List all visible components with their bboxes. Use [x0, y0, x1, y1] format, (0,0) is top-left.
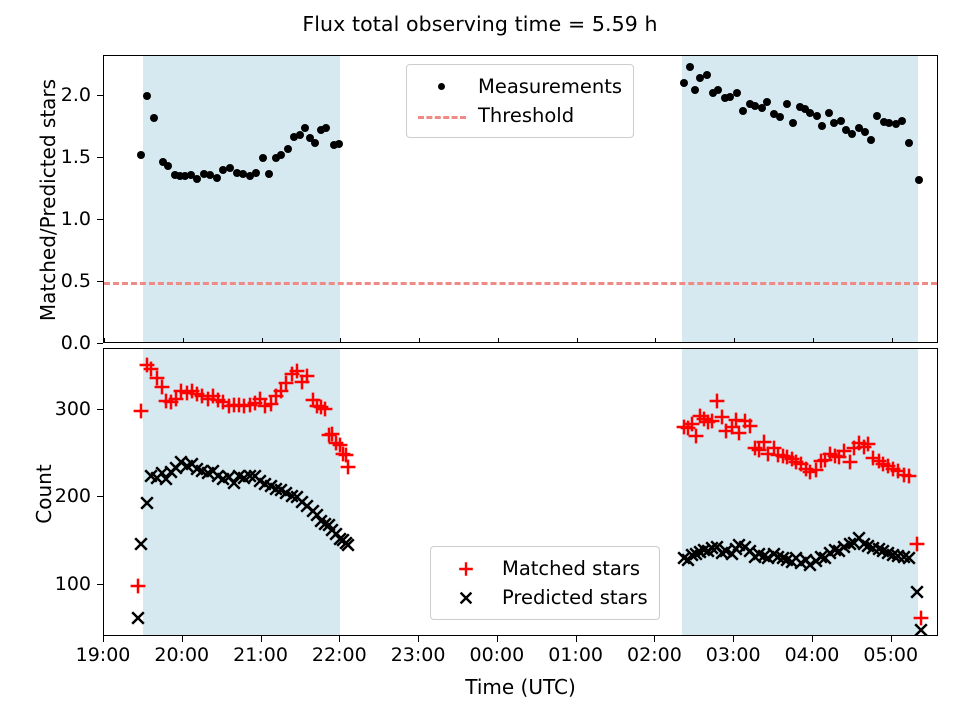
legend-item-predicted-stars: Predicted stars — [440, 583, 648, 612]
x-axis: 19:0020:0021:0022:0023:0000:0001:0002:00… — [103, 636, 938, 676]
x-tick-label: 21:00 — [233, 644, 288, 666]
x-tick-mark — [812, 636, 813, 642]
y-tick-mark — [97, 219, 103, 220]
y-tick-mark — [97, 584, 103, 585]
data-point — [898, 117, 906, 125]
observing-block-shade — [143, 56, 340, 342]
bottom-panel-legend: Matched stars Predicted stars — [430, 546, 660, 620]
data-point — [837, 117, 845, 125]
x-tick-mark — [261, 636, 262, 642]
x-tick-mark — [497, 636, 498, 642]
x-tick-mark — [891, 636, 892, 642]
x-tick-label: 22:00 — [312, 644, 367, 666]
x-tick-mark — [813, 338, 814, 343]
figure: Flux total observing time = 5.59 h Measu… — [0, 0, 960, 720]
data-point — [739, 107, 747, 115]
data-point — [763, 98, 771, 106]
threshold-line — [104, 282, 937, 285]
data-point — [252, 169, 260, 177]
y-tick-label: 0.5 — [61, 270, 91, 292]
legend-item-threshold: Threshold — [416, 101, 622, 130]
x-tick-mark — [182, 636, 183, 642]
x-tick-label: 23:00 — [391, 644, 446, 666]
data-point — [322, 124, 330, 132]
x-tick-mark — [498, 338, 499, 343]
data-point — [284, 145, 292, 153]
x-axis-label: Time (UTC) — [103, 675, 938, 699]
x-tick-mark — [419, 338, 420, 343]
x-tick-label: 05:00 — [863, 644, 918, 666]
data-point — [335, 140, 343, 148]
data-point — [213, 174, 221, 182]
page-title: Flux total observing time = 5.59 h — [0, 12, 960, 36]
x-tick-mark — [104, 338, 105, 343]
x-tick-mark — [183, 338, 184, 343]
data-point — [259, 154, 267, 162]
bottom-panel-y-axis-label: Count — [32, 349, 56, 639]
x-tick-mark — [103, 636, 104, 642]
data-point — [150, 114, 158, 122]
legend-item-matched-stars: Matched stars — [440, 554, 648, 583]
cross-marker-icon — [440, 586, 492, 610]
top-panel: Measurements Threshold — [103, 55, 938, 343]
x-tick-mark — [576, 636, 577, 642]
data-point — [691, 86, 699, 94]
x-tick-mark — [418, 636, 419, 642]
data-point — [818, 122, 826, 130]
observing-block-shade — [682, 56, 918, 342]
data-point — [915, 176, 923, 184]
data-point — [733, 89, 741, 97]
dot-marker-icon — [416, 75, 468, 99]
data-point — [703, 71, 711, 79]
y-tick-mark — [97, 496, 103, 497]
y-tick-label: 2.0 — [61, 84, 91, 106]
y-tick-label: 1.0 — [61, 208, 91, 230]
x-tick-mark — [340, 338, 341, 343]
y-tick-label: 200 — [55, 485, 91, 507]
data-point — [686, 63, 694, 71]
x-tick-mark — [655, 338, 656, 343]
legend-label-predicted-stars: Predicted stars — [492, 586, 648, 609]
y-tick-mark — [97, 281, 103, 282]
data-point — [776, 113, 784, 121]
x-tick-label: 00:00 — [469, 644, 524, 666]
x-tick-label: 19:00 — [76, 644, 131, 666]
plus-marker-icon — [440, 557, 492, 581]
y-tick-mark — [97, 343, 103, 344]
top-panel-y-axis-label: Matched/Predicted stars — [36, 55, 60, 345]
data-point — [813, 112, 821, 120]
dashed-line-icon — [416, 104, 468, 128]
y-tick-label: 300 — [55, 398, 91, 420]
data-point — [143, 92, 151, 100]
y-tick-label: 1.5 — [61, 146, 91, 168]
y-tick-mark — [97, 157, 103, 158]
bottom-panel: Matched stars Predicted stars — [103, 348, 938, 636]
legend-item-measurements: Measurements — [416, 72, 622, 101]
x-tick-label: 04:00 — [785, 644, 840, 666]
data-point — [714, 86, 722, 94]
data-point — [905, 139, 913, 147]
legend-label-matched-stars: Matched stars — [492, 557, 640, 580]
x-tick-label: 02:00 — [627, 644, 682, 666]
x-tick-label: 20:00 — [154, 644, 209, 666]
x-tick-mark — [892, 338, 893, 343]
x-tick-mark — [339, 636, 340, 642]
x-tick-label: 03:00 — [706, 644, 761, 666]
legend-label-measurements: Measurements — [468, 75, 622, 98]
top-panel-legend: Measurements Threshold — [406, 64, 634, 138]
legend-label-threshold: Threshold — [468, 104, 574, 127]
y-tick-mark — [97, 95, 103, 96]
x-tick-label: 01:00 — [548, 644, 603, 666]
y-tick-label: 100 — [55, 573, 91, 595]
data-point — [825, 109, 833, 117]
x-tick-mark — [262, 338, 263, 343]
data-point — [301, 124, 309, 132]
x-tick-mark — [654, 636, 655, 642]
x-tick-mark — [733, 636, 734, 642]
y-tick-mark — [97, 409, 103, 410]
x-tick-mark — [734, 338, 735, 343]
x-tick-mark — [577, 338, 578, 343]
